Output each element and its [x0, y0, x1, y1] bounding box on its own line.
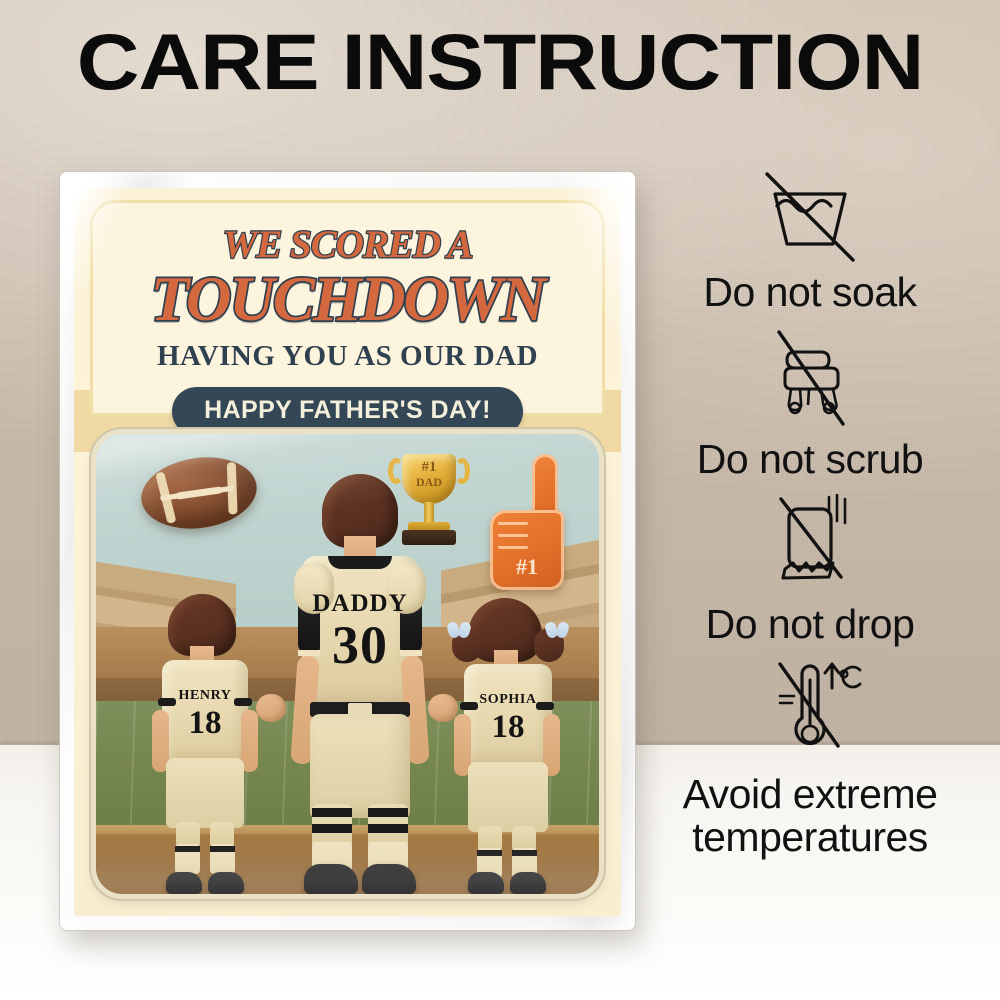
headline-line-3: HAVING YOU AS OUR DAD: [93, 342, 602, 371]
trophy-rank: #1: [402, 460, 456, 476]
figure-child-left: HENRY 18: [150, 594, 260, 894]
girl-sock-stripe-right: [512, 850, 537, 856]
no-extreme-temp-icon: [740, 654, 880, 769]
headline-block: WE SCORED A TOUCHDOWN HAVING YOU AS OUR …: [90, 200, 605, 416]
foam-finger-knuckle-1: [498, 522, 528, 525]
boy-cleat-right: [208, 872, 244, 894]
care-item-no-soak: Do not soak: [620, 162, 1000, 314]
joined-hands-left: [256, 694, 286, 722]
care-label-no-extreme-temp: Avoid extreme temperatures: [620, 773, 1000, 859]
care-item-no-scrub: Do not scrub: [620, 326, 1000, 481]
girl-shorts: [468, 762, 548, 832]
boy-sock-stripe-left: [175, 846, 200, 852]
figure-parent: DADDY 30: [284, 474, 436, 894]
boy-sock-stripe-right: [210, 846, 235, 852]
football-laces: [176, 486, 223, 499]
dad-knee-stripe-left: [312, 808, 352, 817]
care-item-no-extreme-temp: Avoid extreme temperatures: [620, 654, 1000, 859]
girl-jersey-number: 18: [464, 711, 552, 744]
joined-hands-right: [428, 694, 458, 722]
fathers-day-badge: HAPPY FATHER'S DAY!: [172, 387, 523, 436]
girl-hair-bow-left: [448, 622, 470, 638]
dad-collar: [328, 556, 392, 569]
dad-knee-stripe-right: [368, 808, 408, 817]
headline-line-1: WE SCORED A: [93, 225, 602, 264]
care-label-no-soak: Do not soak: [620, 271, 1000, 314]
trophy-engraving: #1 DAD: [402, 460, 456, 488]
no-scrub-icon: [745, 326, 875, 434]
headline-line-2: TOUCHDOWN: [93, 266, 602, 332]
foam-finger-icon: #1: [488, 454, 572, 592]
page-title: CARE INSTRUCTION: [0, 22, 1000, 101]
dad-pants: [310, 714, 410, 818]
boy-jersey-name: HENRY: [162, 688, 248, 704]
no-soak-icon: [745, 162, 875, 267]
no-drop-icon: [745, 489, 875, 599]
dad-cleat-left: [304, 864, 358, 894]
foam-finger-knuckle-3: [498, 546, 528, 549]
care-instruction-list: Do not soak Do not scrub Do not drop: [620, 162, 1000, 859]
girl-sock-stripe-left: [477, 850, 502, 856]
dad-knee-stripe-left-2: [312, 824, 352, 833]
girl-hair-bow-right: [546, 622, 568, 638]
girl-cleat-right: [510, 872, 546, 894]
girl-jersey-name: SOPHIA: [464, 692, 552, 708]
care-label-no-drop: Do not drop: [620, 603, 1000, 646]
figure-child-right: SOPHIA 18: [448, 598, 566, 894]
stadium-scene: #1 DAD #1: [96, 434, 599, 894]
girl-cleat-left: [468, 872, 504, 894]
boy-jersey-number: 18: [162, 707, 248, 740]
care-label-no-scrub: Do not scrub: [620, 438, 1000, 481]
care-item-no-drop: Do not drop: [620, 489, 1000, 646]
dad-cleat-right: [362, 864, 416, 894]
boy-cleat-left: [166, 872, 202, 894]
badge-row: HAPPY FATHER'S DAY!: [93, 387, 602, 436]
foam-finger-knuckle-2: [498, 534, 528, 537]
plaque-card: WE SCORED A TOUCHDOWN HAVING YOU AS OUR …: [74, 188, 621, 916]
acrylic-plaque: WE SCORED A TOUCHDOWN HAVING YOU AS OUR …: [60, 172, 635, 930]
trophy-subject: DAD: [402, 476, 456, 489]
foam-finger-number: #1: [492, 554, 562, 580]
trophy-handle-right: [454, 458, 470, 484]
dad-knee-stripe-right-2: [368, 824, 408, 833]
boy-shorts: [166, 758, 244, 828]
dad-jersey-name: DADDY: [302, 590, 418, 618]
